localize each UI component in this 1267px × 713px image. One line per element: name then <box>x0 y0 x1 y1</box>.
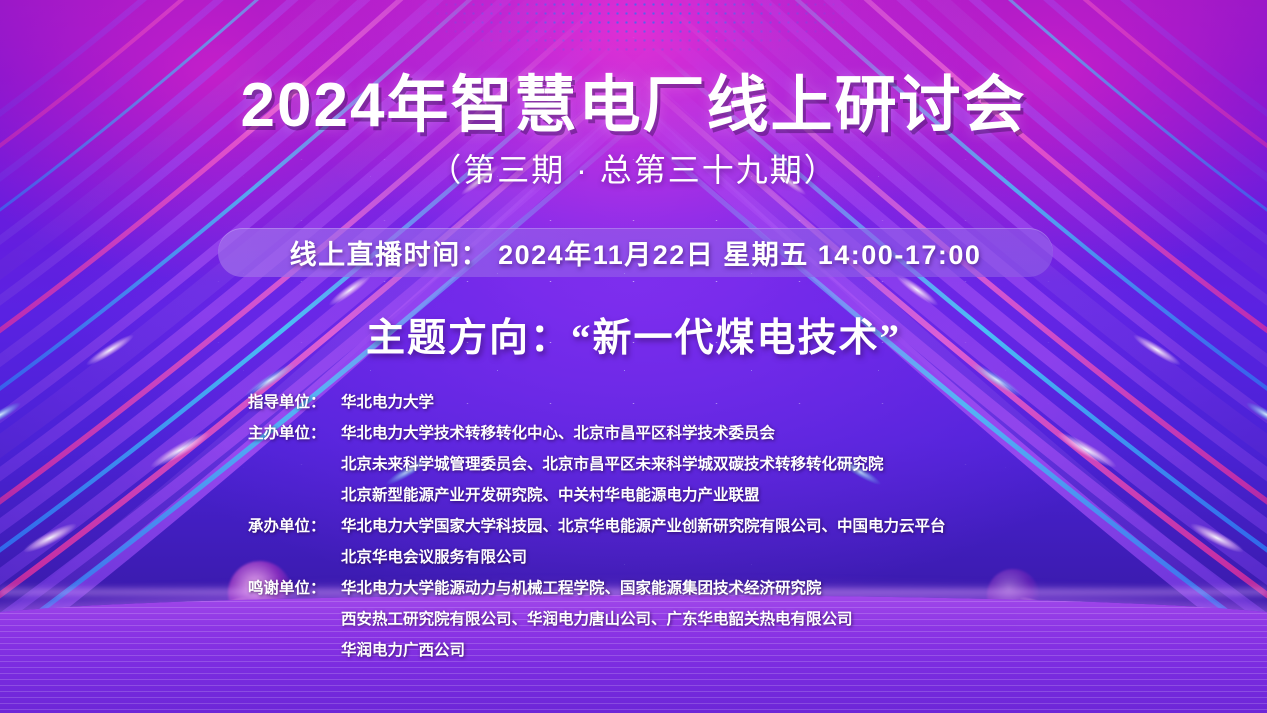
org-value: 北京华电会议服务有限公司 <box>341 542 946 573</box>
org-row-host: 主办单位： 华北电力大学技术转移转化中心、北京市昌平区科学技术委员会 北京未来科… <box>248 418 946 511</box>
org-label-guidance: 指导单位： <box>248 387 341 418</box>
org-value: 华北电力大学技术转移转化中心、北京市昌平区科学技术委员会 <box>341 418 884 449</box>
org-label-host: 主办单位： <box>248 418 341 511</box>
org-value: 华润电力广西公司 <box>341 635 853 666</box>
org-values-acknowledgement: 华北电力大学能源动力与机械工程学院、国家能源集团技术经济研究院 西安热工研究院有… <box>341 573 853 666</box>
org-row-organizer: 承办单位： 华北电力大学国家大学科技园、北京华电能源产业创新研究院有限公司、中国… <box>248 511 946 573</box>
org-values-guidance: 华北电力大学 <box>341 387 434 418</box>
org-value: 北京未来科学城管理委员会、北京市昌平区未来科学城双碳技术转移转化研究院 <box>341 449 884 480</box>
organization-list: 指导单位： 华北电力大学 主办单位： 华北电力大学技术转移转化中心、北京市昌平区… <box>248 387 946 666</box>
poster-subtitle: （第三期 · 总第三十九期） <box>0 145 1267 191</box>
webinar-poster: 2024年智慧电厂线上研讨会 （第三期 · 总第三十九期） 线上直播时间： 20… <box>0 0 1267 713</box>
poster-content: 2024年智慧电厂线上研讨会 （第三期 · 总第三十九期） 线上直播时间： 20… <box>0 0 1267 713</box>
org-value: 华北电力大学 <box>341 387 434 418</box>
org-row-acknowledgement: 鸣谢单位： 华北电力大学能源动力与机械工程学院、国家能源集团技术经济研究院 西安… <box>248 573 946 666</box>
org-value: 西安热工研究院有限公司、华润电力唐山公司、广东华电韶关热电有限公司 <box>341 604 853 635</box>
org-row-guidance: 指导单位： 华北电力大学 <box>248 387 946 418</box>
theme-direction-line: 主题方向：“新一代煤电技术” <box>0 307 1267 363</box>
org-values-host: 华北电力大学技术转移转化中心、北京市昌平区科学技术委员会 北京未来科学城管理委员… <box>341 418 884 511</box>
broadcast-time-text: 线上直播时间： 2024年11月22日 星期五 14:00-17:00 <box>290 233 982 272</box>
org-label-acknowledgement: 鸣谢单位： <box>248 573 341 666</box>
org-values-organizer: 华北电力大学国家大学科技园、北京华电能源产业创新研究院有限公司、中国电力云平台 … <box>341 511 946 573</box>
poster-title: 2024年智慧电厂线上研讨会 <box>0 54 1267 144</box>
org-value: 华北电力大学国家大学科技园、北京华电能源产业创新研究院有限公司、中国电力云平台 <box>341 511 946 542</box>
org-label-organizer: 承办单位： <box>248 511 341 573</box>
broadcast-time-banner: 线上直播时间： 2024年11月22日 星期五 14:00-17:00 <box>218 228 1053 277</box>
org-value: 华北电力大学能源动力与机械工程学院、国家能源集团技术经济研究院 <box>341 573 853 604</box>
org-value: 北京新型能源产业开发研究院、中关村华电能源电力产业联盟 <box>341 480 884 511</box>
